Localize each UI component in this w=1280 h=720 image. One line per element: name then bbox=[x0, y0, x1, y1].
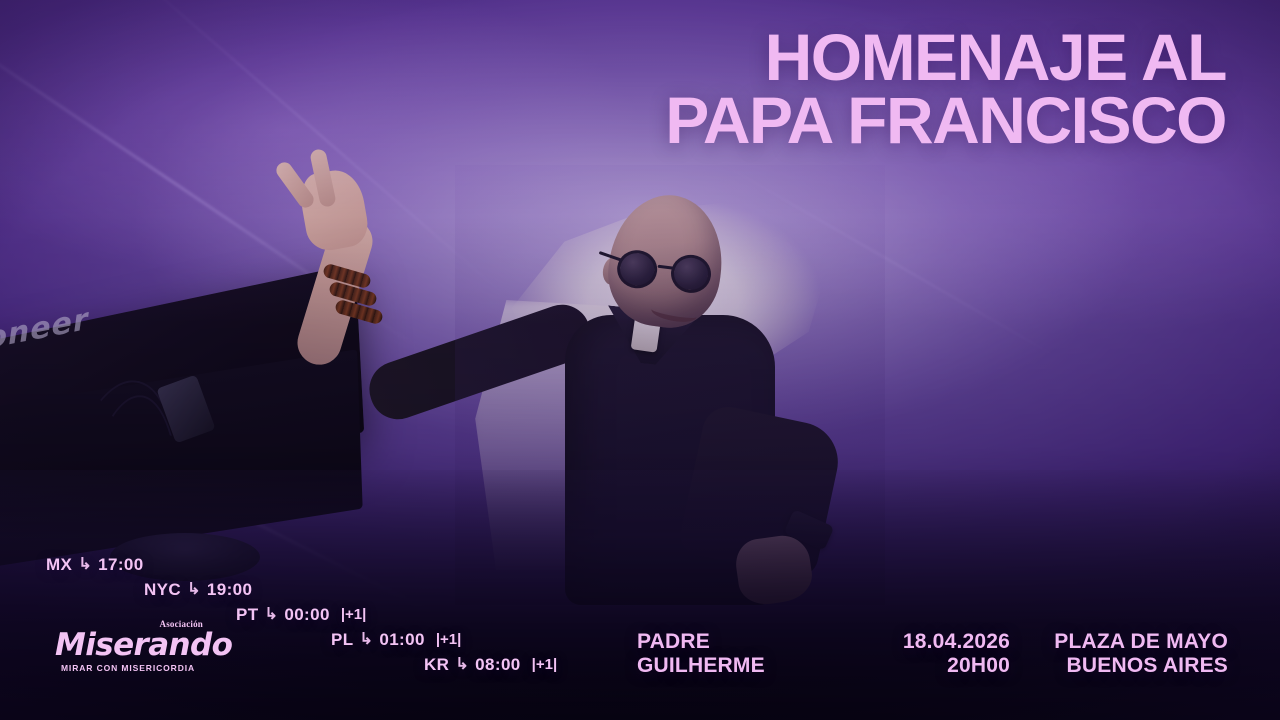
time-line: 20H00 bbox=[760, 654, 1010, 678]
event-date: 18.04.2026 20H00 bbox=[760, 630, 1010, 677]
logo-superscript: Asociación bbox=[160, 620, 204, 629]
venue-line-2: BUENOS AIRES bbox=[1054, 654, 1228, 678]
timezone-row-mx: MX ↳ 17:00 bbox=[46, 556, 666, 573]
timezone-city: PT bbox=[236, 606, 259, 623]
artist-name: PADRE GUILHERME bbox=[637, 630, 765, 677]
artist-line-1: PADRE bbox=[637, 630, 765, 654]
event-poster: Pioneer bbox=[0, 0, 1280, 720]
timezone-row-pt: PT ↳ 00:00 |+1| bbox=[236, 606, 666, 623]
date-line: 18.04.2026 bbox=[760, 630, 1010, 654]
venue-line-1: PLAZA DE MAYO bbox=[1054, 630, 1228, 654]
timezone-row-nyc: NYC ↳ 19:00 bbox=[144, 581, 666, 598]
timezone-time: 17:00 bbox=[98, 556, 143, 573]
artist-line-2: GUILHERME bbox=[637, 654, 765, 678]
arrow-down-right-icon: ↳ bbox=[78, 557, 92, 573]
timezone-time: 00:00 bbox=[284, 606, 329, 623]
arrow-down-right-icon: ↳ bbox=[187, 582, 201, 598]
page-title: HOMENAJE AL PAPA FRANCISCO bbox=[665, 26, 1226, 153]
arrow-down-right-icon: ↳ bbox=[265, 607, 279, 623]
title-line-2: PAPA FRANCISCO bbox=[665, 89, 1226, 152]
title-line-1: HOMENAJE AL bbox=[665, 26, 1226, 89]
timezone-offset: |+1| bbox=[341, 607, 367, 622]
timezone-city: MX bbox=[46, 556, 72, 573]
timezone-time: 19:00 bbox=[207, 581, 252, 598]
timezone-city: NYC bbox=[144, 581, 181, 598]
poster-footer: PADRE GUILHERME 18.04.2026 20H00 PLAZA D… bbox=[0, 630, 1280, 686]
event-venue: PLAZA DE MAYO BUENOS AIRES bbox=[1054, 630, 1228, 677]
